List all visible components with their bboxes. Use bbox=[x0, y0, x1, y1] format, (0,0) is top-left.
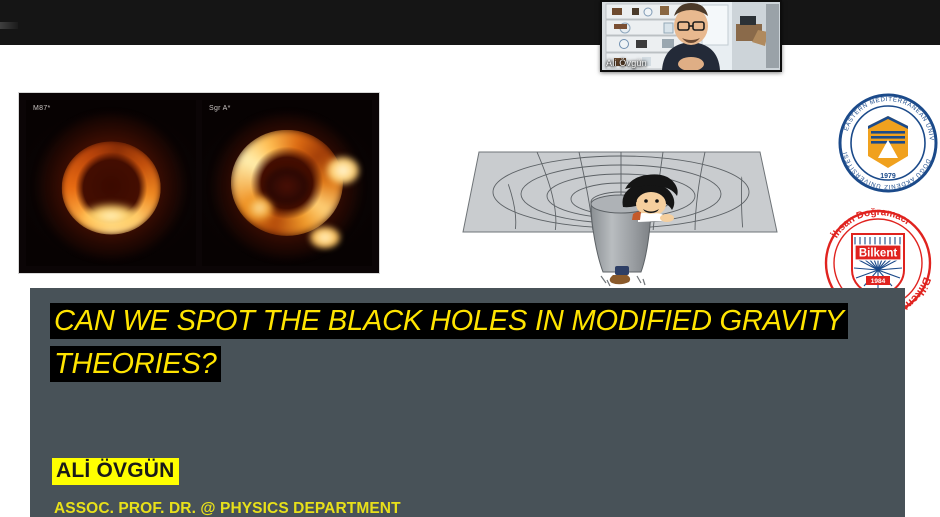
slide-title-line-2: THEORIES? bbox=[50, 346, 221, 382]
presentation-slide: M87* Sgr A* bbox=[0, 45, 940, 517]
webcam-pip[interactable]: Ali Övgün bbox=[600, 0, 782, 72]
sgra-hotspot-lower-right bbox=[309, 226, 341, 249]
slide-title-panel: CAN WE SPOT THE BLACK HOLES IN MODIFIED … bbox=[30, 288, 905, 517]
meeting-top-bar bbox=[0, 0, 940, 45]
presenter-title-line: ASSOC. PROF. DR. @ PHYSICS DEPARTMENT bbox=[54, 500, 401, 517]
sgra-hotspot-upper-right bbox=[326, 156, 360, 184]
falling-man-leg bbox=[615, 266, 629, 275]
sgra-hotspot-left bbox=[246, 196, 273, 219]
m87-bright-crescent bbox=[82, 204, 140, 229]
black-hole-panel-sgra: Sgr A* bbox=[202, 100, 372, 266]
slide-title-line-1: CAN WE SPOT THE BLACK HOLES IN MODIFIED … bbox=[50, 303, 848, 339]
svg-text:Bilkent: Bilkent bbox=[859, 248, 898, 260]
eht-black-hole-figure: M87* Sgr A* bbox=[18, 92, 380, 274]
svg-text:1984: 1984 bbox=[871, 278, 886, 285]
svg-text:1979: 1979 bbox=[880, 173, 896, 180]
slide-title: CAN WE SPOT THE BLACK HOLES IN MODIFIED … bbox=[50, 300, 885, 386]
black-hole-panel-m87: M87* bbox=[26, 100, 196, 266]
black-hole-label-m87: M87* bbox=[33, 105, 51, 112]
falling-man-shoe bbox=[610, 275, 630, 284]
screen-root: M87* Sgr A* bbox=[0, 0, 940, 517]
black-hole-label-sgra: Sgr A* bbox=[209, 105, 231, 112]
logo-eastern-mediterranean-university: EASTERN MEDITERRANEAN UNIVERSITY DOĞU AK… bbox=[838, 92, 938, 195]
emu-logo-svg: EASTERN MEDITERRANEAN UNIVERSITY DOĞU AK… bbox=[838, 92, 938, 195]
sgra-shadow-core bbox=[265, 168, 309, 205]
curtain bbox=[766, 4, 779, 68]
webcam-participant-name: Ali Övgün bbox=[606, 58, 647, 68]
top-bar-sheen bbox=[0, 22, 18, 29]
presenter-name: ALİ ÖVGÜN bbox=[52, 458, 179, 485]
monitor bbox=[740, 16, 756, 25]
